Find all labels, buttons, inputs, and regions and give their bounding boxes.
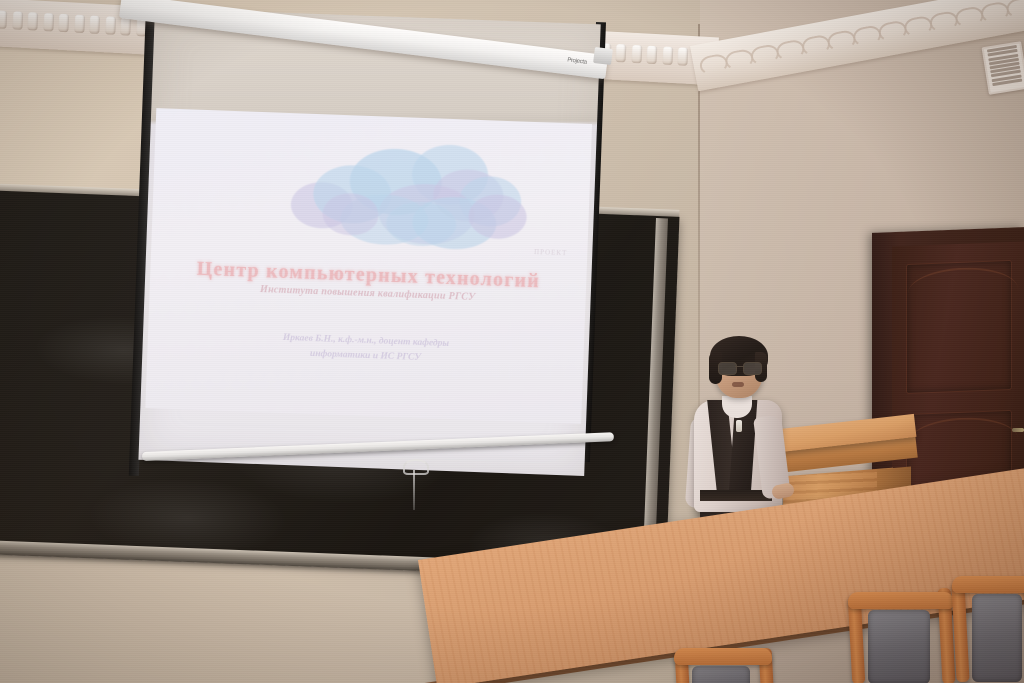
molding-dentil <box>615 44 626 63</box>
molding-wave <box>749 43 780 67</box>
molding-dentil <box>662 46 673 65</box>
molding-wave <box>852 24 883 48</box>
molding-dentil <box>677 47 688 66</box>
slide-author: Иркаев Б.Н., к.ф.-м.н., доцент кафедры и… <box>147 326 584 372</box>
molding-wave <box>826 29 857 53</box>
chair-right[interactable] <box>952 570 1024 683</box>
molding-dentil <box>631 45 642 64</box>
presentation-slide: ПРОЕКТ Центр компьютерных технологий Инс… <box>145 108 592 424</box>
molding-wave <box>724 48 755 72</box>
molding-dentil <box>74 15 85 34</box>
eyeglasses-icon <box>718 362 760 373</box>
screen-pull-handle[interactable] <box>403 459 429 475</box>
molding-dentil <box>105 16 116 35</box>
screen-brand-label: Projecta <box>566 57 593 69</box>
molding-dentil <box>0 10 7 29</box>
chair-middle[interactable] <box>848 582 960 683</box>
molding-dentil <box>120 17 131 36</box>
screen-pull-cord[interactable] <box>413 470 415 510</box>
molding-dentil <box>646 46 657 65</box>
cloud-illustration-icon <box>281 135 535 259</box>
molding-wave <box>1005 0 1024 20</box>
molding-dentil <box>43 13 54 32</box>
projection-screen: ПРОЕКТ Центр компьютерных технологий Инс… <box>138 8 600 476</box>
slide-corner-label: ПРОЕКТ <box>534 248 568 257</box>
molding-wave <box>903 15 934 39</box>
presenter-mouth <box>732 382 744 387</box>
ventilation-grille-icon <box>981 41 1024 95</box>
molding-wave <box>698 53 729 77</box>
molding-dentil <box>89 15 100 34</box>
molding-wave <box>954 5 985 29</box>
molding-dentil <box>12 11 23 30</box>
door-handle[interactable] <box>1012 428 1024 432</box>
presenter-pendant <box>736 420 742 432</box>
molding-wave <box>801 34 832 58</box>
projected-image-area: ПРОЕКТ Центр компьютерных технологий Инс… <box>138 8 600 476</box>
chair-front-left[interactable] <box>672 640 782 683</box>
screen-case-end-cap <box>593 47 613 65</box>
molding-wave <box>928 10 959 34</box>
molding-wave <box>877 19 908 43</box>
molding-dentil <box>27 12 38 31</box>
molding-wave <box>979 0 1010 24</box>
classroom-photo: ПРОЕКТ Центр компьютерных технологий Инс… <box>0 0 1024 683</box>
molding-wave <box>775 38 806 62</box>
molding-dentil <box>58 14 69 33</box>
